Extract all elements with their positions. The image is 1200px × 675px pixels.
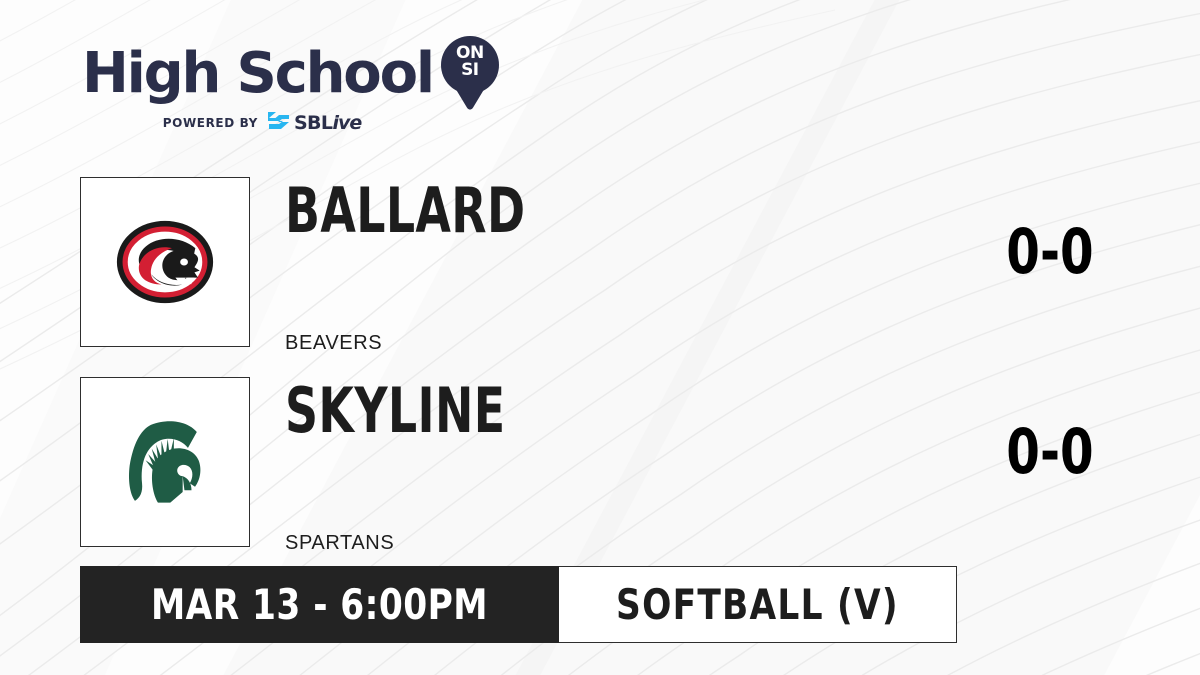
- game-sport-label: SOFTBALL (V): [616, 583, 899, 627]
- brand-logo: High School ON SI POWERED BY SBLive: [82, 38, 512, 132]
- skyline-spartan-helmet-logo-icon: [112, 409, 218, 515]
- powered-by-row: POWERED BY SBLive: [82, 114, 442, 132]
- team-row-skyline: SKYLINE SPARTANS 0-0: [80, 377, 1080, 549]
- onsi-pin-icon: ON SI: [441, 36, 499, 112]
- team-text-ballard: BALLARD BEAVERS: [285, 177, 905, 349]
- powered-by-label: POWERED BY: [163, 116, 258, 130]
- team-mascot-skyline: SPARTANS: [285, 532, 394, 555]
- scoreboard-graphic: High School ON SI POWERED BY SBLive: [0, 0, 1200, 675]
- brand-wordmark: High School: [82, 43, 433, 105]
- brand-logo-row: High School ON SI: [82, 38, 512, 110]
- game-datetime-chip[interactable]: MAR 13 - 6:00PM: [80, 566, 559, 643]
- ballard-beaver-logo-icon: [113, 210, 217, 314]
- sblive-wordmark: SBLive: [294, 112, 361, 134]
- sblive-s-mark-icon: [267, 111, 291, 135]
- game-info-bar: MAR 13 - 6:00PM SOFTBALL (V): [80, 566, 957, 643]
- team-logo-card-ballard[interactable]: [80, 177, 250, 347]
- team-mascot-ballard: BEAVERS: [285, 332, 382, 355]
- game-sport-chip[interactable]: SOFTBALL (V): [559, 566, 957, 643]
- team-name-ballard: BALLARD: [285, 180, 525, 242]
- sblive-italic: ive: [332, 112, 361, 134]
- team-record-skyline: 0-0: [953, 421, 1148, 483]
- pin-label: ON SI: [441, 45, 499, 79]
- game-datetime-label: MAR 13 - 6:00PM: [151, 583, 488, 627]
- pin-label-line2: SI: [441, 62, 499, 79]
- team-text-skyline: SKYLINE SPARTANS: [285, 377, 905, 549]
- sblive-main: SBL: [294, 112, 332, 134]
- team-record-ballard: 0-0: [953, 221, 1148, 283]
- team-name-skyline: SKYLINE: [285, 380, 505, 442]
- team-row-ballard: BALLARD BEAVERS 0-0: [80, 177, 1080, 349]
- team-logo-card-skyline[interactable]: [80, 377, 250, 547]
